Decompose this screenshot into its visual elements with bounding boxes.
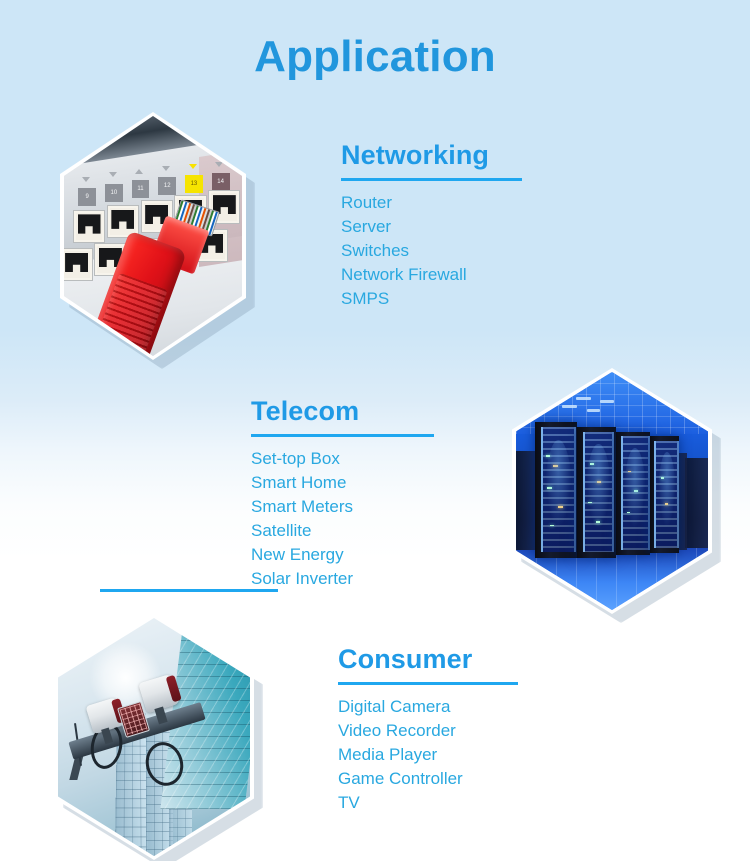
list-item: Set-top Box	[251, 447, 434, 471]
list-item: New Energy	[251, 543, 434, 567]
list-item: SMPS	[341, 287, 522, 311]
list-item: Network Firewall	[341, 263, 522, 287]
page-title: Application	[0, 33, 750, 81]
hexagon-image-consumer	[54, 614, 254, 860]
port-label: 10	[105, 184, 123, 202]
section-telecom: Telecom Set-top Box Smart Home Smart Met…	[251, 396, 434, 591]
port-label: 12	[158, 177, 176, 195]
list-item: Router	[341, 191, 522, 215]
section-rule-telecom	[251, 434, 434, 437]
section-rule-consumer	[338, 682, 518, 685]
section-heading-consumer: Consumer	[338, 644, 518, 675]
list-item: Game Controller	[338, 767, 518, 791]
list-item: Solar Inverter	[251, 567, 434, 591]
list-item: Switches	[341, 239, 522, 263]
decorative-divider	[100, 589, 278, 592]
section-rule-networking	[341, 178, 522, 181]
port-label: 11	[132, 180, 150, 198]
list-item: Smart Meters	[251, 495, 434, 519]
application-page: Application 9 10 11	[0, 0, 750, 861]
hexagon-image-networking: 9 10 11 12 13 14	[60, 112, 246, 360]
list-item: Video Recorder	[338, 719, 518, 743]
hexagon-image-telecom	[512, 368, 712, 614]
section-heading-telecom: Telecom	[251, 396, 434, 427]
section-heading-networking: Networking	[341, 140, 522, 171]
list-item: Media Player	[338, 743, 518, 767]
list-item: Digital Camera	[338, 695, 518, 719]
section-list-telecom: Set-top Box Smart Home Smart Meters Sate…	[251, 447, 434, 591]
port-label: 9	[78, 188, 96, 206]
list-item: Satellite	[251, 519, 434, 543]
section-list-networking: Router Server Switches Network Firewall …	[341, 191, 522, 311]
list-item: TV	[338, 791, 518, 815]
list-item: Server	[341, 215, 522, 239]
list-item: Smart Home	[251, 471, 434, 495]
port-label: 14	[212, 173, 230, 191]
port-label-active: 13	[185, 175, 203, 193]
section-networking: Networking Router Server Switches Networ…	[341, 140, 522, 311]
section-list-consumer: Digital Camera Video Recorder Media Play…	[338, 695, 518, 815]
section-consumer: Consumer Digital Camera Video Recorder M…	[338, 644, 518, 815]
